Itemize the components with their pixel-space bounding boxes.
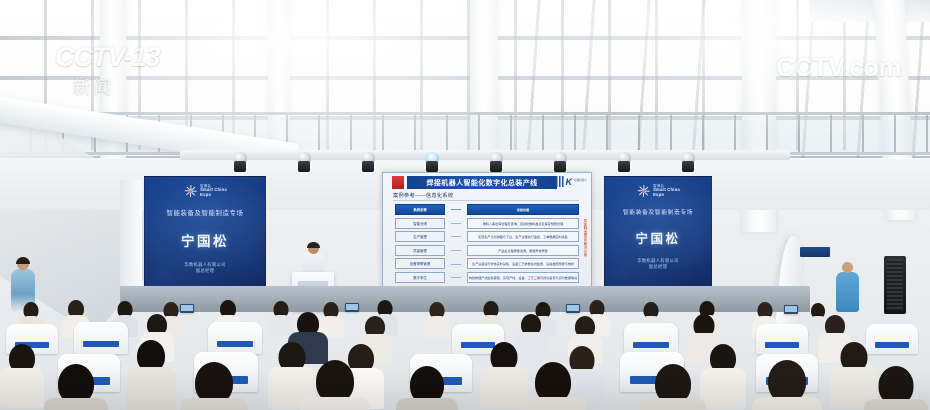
expo-logo-cn: 智博会 xyxy=(653,185,680,189)
table-cell-right: 产品全过程质量追溯，质量异常预警 xyxy=(467,245,579,256)
brand-mark: K xyxy=(566,177,573,187)
expo-burst-icon xyxy=(636,184,650,198)
slide-side-note: 智能制造整体解决方案 xyxy=(583,211,588,265)
audience-member xyxy=(0,344,44,404)
stage-light xyxy=(616,152,632,172)
stage-light xyxy=(680,152,696,172)
audience-member xyxy=(44,364,108,410)
railing-top-rail xyxy=(0,112,930,115)
table-row: 生产管理 实现生产计划排程与下达、生产过程执行监控、工单数据实时采集 xyxy=(395,231,579,242)
table-header-right: 系统功能 xyxy=(467,204,579,215)
lighting-truss xyxy=(180,150,790,160)
slide-subtitle: 案例参考——信息化系统 xyxy=(393,192,453,199)
stage-light xyxy=(488,152,504,172)
table-cell-left: 智能仓储 xyxy=(395,218,445,229)
chair xyxy=(208,322,262,354)
table-header-left: 系统名称 xyxy=(395,204,445,215)
table-connector xyxy=(451,223,461,224)
table-cell-right: 物料入库出库管理及查询，自动化物料盘点及库存预警管理 xyxy=(467,218,579,229)
laptop xyxy=(180,304,194,313)
table-row: 质量管理 产品全过程质量追溯，质量异常预警 xyxy=(395,245,579,256)
table-cell-left: 设备物联管理 xyxy=(395,258,445,269)
brand-bars-icon xyxy=(556,176,564,187)
stage-light xyxy=(232,152,248,172)
laptop xyxy=(566,304,580,313)
audience-member xyxy=(126,340,176,406)
audience-member xyxy=(864,366,928,410)
presentation-screen: 焊接机器人智能化数字化总装产线 K 华数机器人 案例参考——信息化系统 系统名称… xyxy=(382,172,592,296)
stage-light xyxy=(296,152,312,172)
slide-accent-block xyxy=(392,176,404,189)
audience-member xyxy=(640,364,706,410)
exit-sign xyxy=(800,247,830,257)
expo-logo-en-2: Expo xyxy=(200,193,227,197)
stage-light xyxy=(552,152,568,172)
audience-member xyxy=(520,362,586,410)
banner-theme-left: 智能装备及智能制造专场 xyxy=(145,208,265,217)
table-header-row: 系统名称 系统功能 xyxy=(395,204,579,215)
chair xyxy=(74,322,128,354)
expo-burst-icon xyxy=(183,184,197,198)
audience-member xyxy=(300,360,370,410)
table-connector xyxy=(451,236,461,237)
banner-theme-right: 智能装备及智能制造专场 xyxy=(605,207,711,216)
slide-divider xyxy=(393,200,579,201)
brand-sub: 华数机器人 xyxy=(574,180,587,183)
banner-org-line2-left: 副总经理 xyxy=(145,268,265,274)
table-cell-right: 生产设备运行状态实时采集、设备工艺参数在线监测、设备故障预警与维护 xyxy=(467,258,579,269)
audience-member xyxy=(752,360,822,410)
table-row: 数字孪生 构建物理产线虚拟模型，实现产线、设备、工艺三维可视化呈现与实时数据联动 xyxy=(395,272,579,283)
banner-speaker-name-left: 宁国松 xyxy=(145,230,265,250)
audience-member xyxy=(396,366,458,410)
table-connector xyxy=(451,264,461,265)
broadcast-frame: 智博会 Smart China Expo 智能装备及智能制造专场 宁国松 华数机… xyxy=(0,0,930,410)
banner-org-line2-right: 副总经理 xyxy=(605,264,711,270)
stage-side-panel xyxy=(120,180,142,298)
smart-china-expo-logo: 智博会 Smart China Expo xyxy=(605,184,711,198)
banner-org-line1-right: 华数机器人有限公司 xyxy=(605,258,711,264)
stage-banner-left: 智博会 Smart China Expo 智能装备及智能制造专场 宁国松 华数机… xyxy=(144,176,266,300)
table-connector xyxy=(451,209,461,210)
smart-china-expo-logo: 智博会 Smart China Expo xyxy=(145,184,265,198)
audience-member xyxy=(700,344,746,406)
banner-speaker-org-left: 华数机器人有限公司 副总经理 xyxy=(145,262,265,275)
chair xyxy=(624,323,678,354)
table-cell-left: 质量管理 xyxy=(395,245,445,256)
expo-logo-cn: 智博会 xyxy=(200,185,227,189)
table-row: 智能仓储 物料入库出库管理及查询，自动化物料盘点及库存预警管理 xyxy=(395,218,579,229)
table-connector xyxy=(451,277,461,278)
banner-speaker-org-right: 华数机器人有限公司 副总经理 xyxy=(605,258,711,271)
table-cell-right: 构建物理产线虚拟模型，实现产线、设备、工艺三维可视化呈现与实时数据联动 xyxy=(467,272,579,283)
slide-table: 系统名称 系统功能 智能仓储 物料入库出库管理及查询，自动化物料盘点及库存预警管… xyxy=(395,204,579,286)
ceiling-band xyxy=(810,0,930,22)
stage-light xyxy=(424,152,440,172)
table-cell-left: 数字孪生 xyxy=(395,272,445,283)
expo-logo-en-1: Smart China xyxy=(200,188,227,192)
audience-area xyxy=(0,300,930,410)
slide-title: 焊接机器人智能化数字化总装产线 xyxy=(407,176,557,189)
slide-brand-logo: K 华数机器人 xyxy=(556,176,587,187)
stage-light xyxy=(360,152,376,172)
expo-logo-en-2: Expo xyxy=(653,193,680,197)
table-cell-right: 实现生产计划排程与下达、生产过程执行监控、工单数据实时采集 xyxy=(467,231,579,242)
banner-speaker-name-right: 宁国松 xyxy=(605,228,711,247)
table-row: 设备物联管理 生产设备运行状态实时采集、设备工艺参数在线监测、设备故障预警与维护 xyxy=(395,258,579,269)
expo-logo-en-1: Smart China xyxy=(653,188,680,192)
table-connector xyxy=(451,250,461,251)
audience-member xyxy=(424,302,450,336)
laptop xyxy=(345,303,359,312)
laptop xyxy=(784,305,798,314)
speaker-hair xyxy=(307,242,320,248)
chair xyxy=(756,324,808,354)
banner-org-line1-left: 华数机器人有限公司 xyxy=(145,262,265,268)
audience-member xyxy=(180,362,248,410)
stage-banner-right: 智博会 Smart China Expo 智能装备及智能制造专场 宁国松 华数机… xyxy=(604,176,712,296)
table-cell-left: 生产管理 xyxy=(395,231,445,242)
